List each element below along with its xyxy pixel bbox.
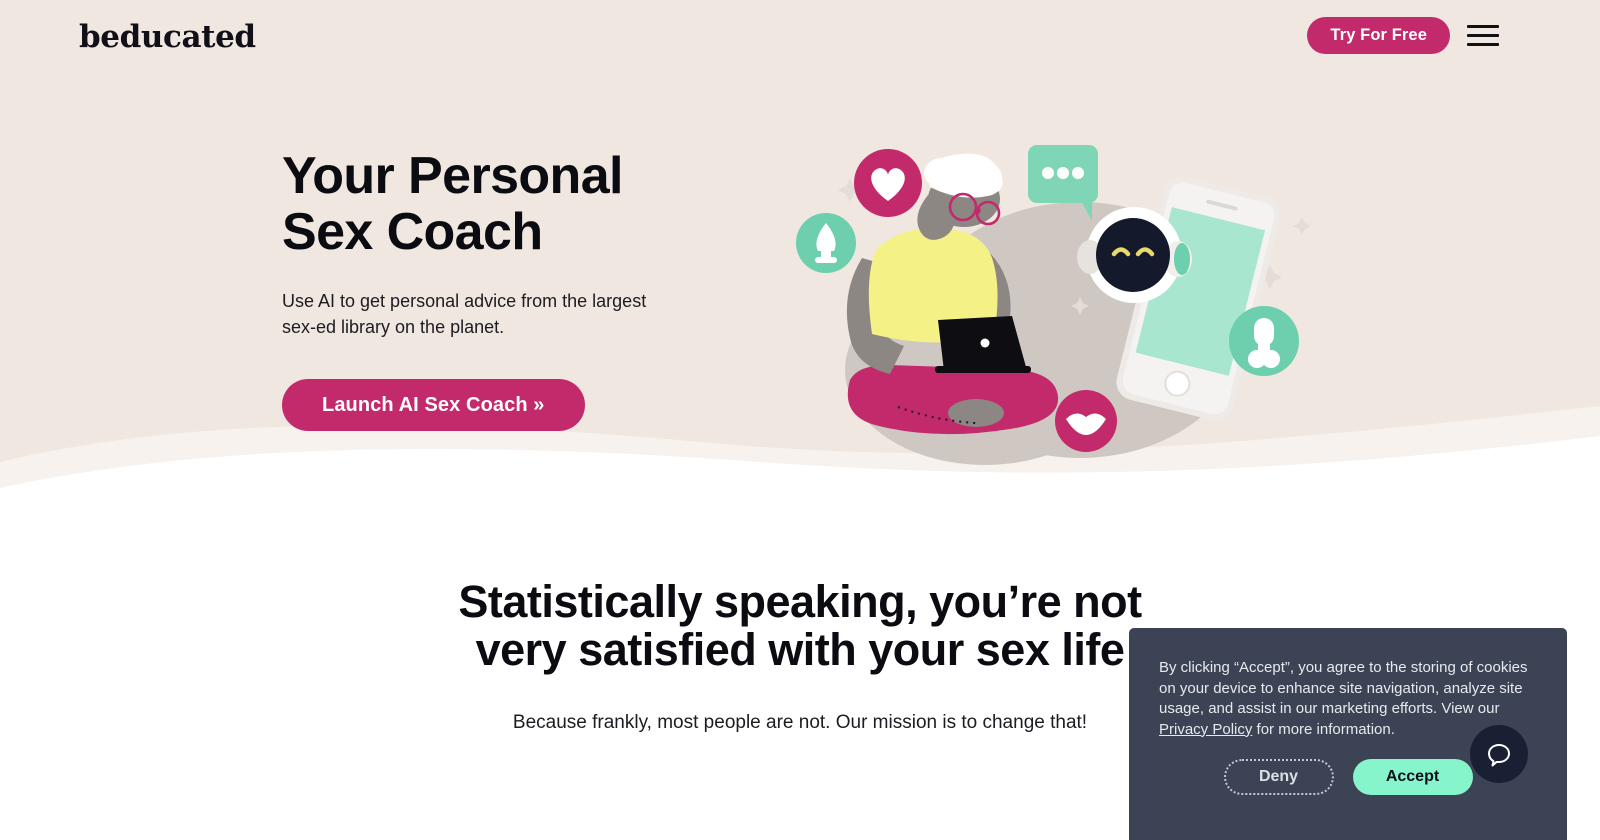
page-root: Your Personal Sex Coach Use AI to get pe…: [0, 0, 1600, 840]
hero-subtitle: Use AI to get personal advice from the l…: [282, 288, 682, 340]
accept-cookies-button[interactable]: Accept: [1353, 759, 1473, 795]
hero-section: Your Personal Sex Coach Use AI to get pe…: [0, 0, 1600, 510]
heart-badge-icon: [854, 149, 922, 217]
chat-bubble-icon: [1485, 740, 1513, 768]
hamburger-menu-icon[interactable]: [1467, 25, 1499, 47]
cookie-text-part2: for more information.: [1252, 721, 1395, 738]
hero-copy: Your Personal Sex Coach Use AI to get pe…: [282, 148, 742, 431]
try-for-free-button[interactable]: Try For Free: [1307, 17, 1450, 54]
hamburger-line: [1467, 43, 1499, 46]
hero-illustration: [780, 125, 1340, 465]
page-title: Your Personal Sex Coach: [282, 148, 742, 260]
cookie-consent-text: By clicking “Accept”, you agree to the s…: [1159, 658, 1537, 740]
plug-badge-icon: [796, 213, 856, 273]
launch-ai-sex-coach-button[interactable]: Launch AI Sex Coach »: [282, 379, 585, 431]
cookie-text-part1: By clicking “Accept”, you agree to the s…: [1159, 659, 1528, 717]
hamburger-line: [1467, 25, 1499, 28]
lips-badge-icon: [1055, 390, 1117, 452]
hamburger-line: [1467, 34, 1499, 37]
site-header: beducated Try For Free: [0, 0, 1600, 72]
brand-logo[interactable]: beducated: [79, 18, 256, 56]
chat-support-widget-button[interactable]: [1470, 725, 1528, 783]
toy-badge-icon: [1229, 306, 1299, 376]
deny-cookies-button[interactable]: Deny: [1224, 759, 1334, 795]
privacy-policy-link[interactable]: Privacy Policy: [1159, 721, 1252, 738]
